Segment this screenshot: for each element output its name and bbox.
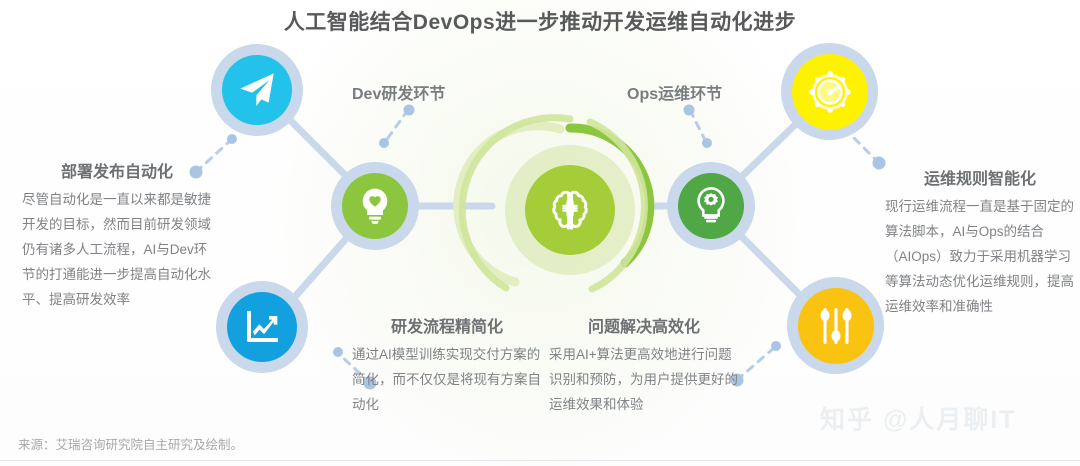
ops-rules-heading: 运维规则智能化 — [885, 165, 1075, 189]
link-bottomleft-dev — [292, 232, 352, 300]
gauge-icon — [792, 54, 868, 130]
leader-problem — [737, 347, 775, 380]
rnd-body: 通过AI模型训练实现交付方案的简化，而不仅仅是将现有方案自动化 — [352, 342, 542, 417]
watermark: 知乎 @人月聊IT — [820, 400, 1017, 436]
node-dev-stage[interactable] — [331, 162, 419, 250]
leader-dev-label — [385, 110, 408, 142]
node-ops-rules-intelligence[interactable] — [781, 43, 878, 140]
link-ops-bottomright — [735, 230, 805, 300]
link-ops-topright — [735, 120, 800, 183]
rnd-heading: 研发流程精简化 — [352, 313, 542, 337]
leader-ops-label — [690, 110, 706, 142]
stage-label-ops: Ops运维环节 — [627, 80, 722, 104]
node-deploy-automation[interactable] — [211, 44, 303, 136]
ops-rules-body: 现行运维流程一直是基于固定的算法脚本，AI与Ops的结合（AIOps）致力于采用… — [885, 194, 1075, 319]
deploy-heading: 部署发布自动化 — [22, 158, 212, 182]
brain-chip-icon — [525, 165, 615, 255]
infographic-canvas: 人工智能结合DevOps进一步推动开发运维自动化进步 Dev研发环节 Ops运维… — [0, 0, 1080, 466]
text-block-rnd: 研发流程精简化 通过AI模型训练实现交付方案的简化，而不仅仅是将现有方案自动化 — [352, 313, 542, 417]
stage-label-dev: Dev研发环节 — [352, 80, 445, 104]
problem-heading: 问题解决高效化 — [549, 313, 739, 337]
node-ai-core[interactable] — [478, 118, 662, 302]
node-problem-resolution[interactable] — [787, 277, 884, 374]
text-block-deploy: 部署发布自动化 尽管自动化是一直以来都是敏捷开发的目标，然而目前研发领域仍有诸多… — [22, 158, 212, 312]
lightbulb-gear-icon — [678, 173, 744, 239]
node-ops-stage[interactable] — [667, 162, 755, 250]
link-topleft-dev — [288, 118, 352, 182]
page-title: 人工智能结合DevOps进一步推动开发运维自动化进步 — [0, 6, 1080, 36]
leader-opsrules — [848, 132, 879, 163]
sliders-icon — [798, 288, 874, 364]
paper-plane-icon — [222, 55, 292, 125]
source-note: 来源：艾瑞咨询研究院自主研究及绘制。 — [18, 434, 243, 453]
node-rnd-efficiency[interactable] — [216, 281, 308, 373]
problem-body: 采用AI+算法更高效地进行问题识别和预防，为用户提供更好的运维效果和体验 — [549, 342, 739, 417]
text-block-ops-rules: 运维规则智能化 现行运维流程一直是基于固定的算法脚本，AI与Ops的结合（AIO… — [885, 165, 1075, 319]
growth-chart-icon — [227, 292, 297, 362]
footer-divider — [0, 460, 1080, 461]
deploy-body: 尽管自动化是一直以来都是敏捷开发的目标，然而目前研发领域仍有诸多人工流程，AI与… — [22, 187, 212, 312]
text-block-problem: 问题解决高效化 采用AI+算法更高效地进行问题识别和预防，为用户提供更好的运维效… — [549, 313, 739, 417]
lightbulb-heart-icon — [342, 173, 408, 239]
